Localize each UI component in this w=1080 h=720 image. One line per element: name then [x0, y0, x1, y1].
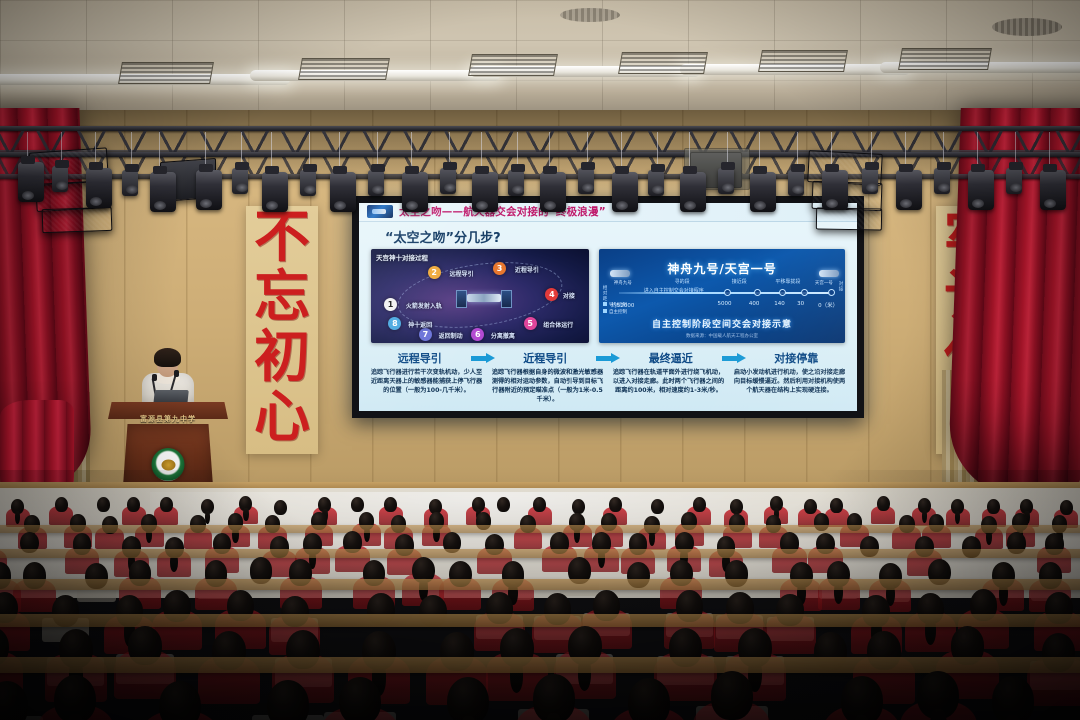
figure-shenzhou-tiangong: 神舟九号/天宫一号 相对距离 对接 约520005000400140300（米）…	[599, 249, 845, 343]
audience-head	[841, 676, 883, 720]
audience-head	[533, 497, 546, 512]
docking-step-label-3: 近程导引	[515, 265, 539, 274]
timeline-tick-label: 30	[797, 301, 804, 307]
step-heading-1: 远程导引	[369, 350, 471, 366]
par-can-light	[934, 168, 950, 194]
step-desc-3: 追踪飞行器在轨道平面外进行绕飞机动，以进入对接走廊。此时两个飞行器之间的距离约1…	[611, 369, 726, 405]
audience-head	[711, 671, 753, 720]
spacecraft-icon-tiangong	[819, 270, 839, 277]
timeline-phase-label: 寻的段	[675, 278, 690, 285]
audience-head	[877, 496, 890, 511]
par-can-light	[508, 170, 524, 196]
moving-head-light	[1040, 170, 1066, 210]
docking-step-dot-7: 7	[419, 328, 432, 341]
banner-char: 心	[254, 390, 310, 446]
step-descriptions: 追踪飞行器进行若干次变轨机动，少人至近距离天器上的敏感器能捕获上停飞行器的位置（…	[359, 367, 857, 411]
audience-head	[572, 499, 585, 514]
par-can-light	[718, 168, 734, 194]
audience-head	[55, 497, 68, 512]
figure-right-legend: 导引控制 自主控制	[603, 302, 627, 317]
moving-head-light	[612, 172, 638, 212]
audience-desk	[0, 657, 1080, 673]
round-ceiling-vent	[992, 18, 1062, 36]
stage-truss-front	[0, 126, 1080, 160]
space-station-icon	[467, 294, 501, 302]
par-can-light	[52, 166, 68, 192]
docking-step-label-7: 返回制动	[439, 331, 463, 340]
audience-head	[0, 681, 28, 720]
audience-head	[609, 497, 622, 512]
audience-head	[267, 680, 309, 720]
ceiling-air-vent	[468, 54, 558, 76]
auditorium-scene: 不 忘 初 心 牢 记 使 命 太空之吻——航天器交会对接的“终极浪漫” “太空…	[0, 0, 1080, 720]
timeline-tick-label: 400	[749, 301, 760, 307]
wall-banner-left: 不 忘 初 心	[246, 206, 318, 454]
docking-step-dot-2: 2	[428, 266, 441, 279]
par-can-light	[578, 168, 594, 194]
ponytail	[922, 510, 927, 523]
legend-item: 导引控制	[609, 303, 627, 308]
slide-title: 太空之吻——航天器交会对接的“终极浪漫”	[399, 204, 606, 219]
timeline-phase-label: 平移靠拢段	[775, 278, 800, 285]
par-can-light	[300, 170, 316, 196]
figure-right-subtitle: 自主控制阶段空间交会对接示意	[599, 317, 845, 330]
step-desc-1: 追踪飞行器进行若干次变轨机动，少人至近距离天器上的敏感器能捕获上停飞行器的位置（…	[369, 369, 484, 405]
docking-step-dot-4: 4	[545, 288, 558, 301]
figure-right-axis-right-label: 对接	[837, 281, 843, 292]
docking-step-label-2: 远程导引	[449, 269, 473, 278]
audience-head	[804, 499, 817, 514]
moving-head-light	[540, 172, 566, 212]
docking-step-dot-6: 6	[471, 328, 484, 341]
audience-head	[628, 678, 670, 720]
timeline-phase-label: 接近段	[732, 278, 747, 285]
ponytail	[649, 530, 655, 545]
audience-head	[384, 497, 397, 512]
audience-desk	[0, 549, 1080, 558]
moving-head-light	[968, 170, 994, 210]
figure-docking-sequence: 天宫神十对接过程 1火箭发射入轨2远程导引3近程导引4对接5组合体运行6分离撤离…	[371, 249, 589, 343]
audience-seating	[0, 470, 1080, 720]
slide-subtitle: “太空之吻”分几步?	[359, 222, 857, 249]
audience-desk	[0, 614, 1080, 627]
ceiling-air-vent	[618, 52, 708, 74]
audience-head	[1060, 500, 1073, 515]
moving-head-light	[680, 172, 706, 212]
spacecraft-caption-tiangong: 天宫一号	[815, 280, 833, 286]
docking-timeline: 约520005000400140300（米）寻的段接近段平移靠拢段进入自主控制交…	[619, 292, 831, 294]
timeline-tick-label: 0（米）	[818, 301, 838, 309]
slide: 太空之吻——航天器交会对接的“终极浪漫” “太空之吻”分几步? 天宫神十对接过程…	[359, 203, 857, 411]
timeline-phase-note: 进入自主控制交会对接程序	[644, 287, 704, 294]
par-can-light	[440, 168, 456, 194]
line-array-speaker-right	[816, 207, 882, 230]
moving-head-light	[150, 172, 176, 212]
spacecraft-icon-shenzhou	[610, 270, 630, 277]
audience-head	[160, 497, 173, 512]
docking-step-dot-1: 1	[384, 298, 397, 311]
figure-right-title: 神舟九号/天宫一号	[599, 260, 845, 277]
par-can-light	[788, 170, 804, 196]
space-thumbnail-icon	[367, 205, 393, 218]
microphone-head	[174, 370, 179, 377]
audience-desk	[0, 579, 1080, 590]
arrow-right-icon	[471, 353, 495, 364]
figure-right-credit: 数据来源：中国载人航天工程办公室	[599, 333, 845, 339]
podium-name-plate: 富源县第九中学	[108, 414, 228, 424]
step-desc-4: 启动小发动机进行机动，使之沿对接走廊向目标缓慢逼近。然后利用对接机构使两个航天器…	[732, 369, 847, 405]
timeline-node	[779, 289, 786, 296]
docking-step-label-5: 组合体运行	[543, 320, 573, 329]
slide-figures: 天宫神十对接过程 1火箭发射入轨2远程导引3近程导引4对接5组合体运行6分离撤离…	[359, 249, 857, 343]
timeline-node	[801, 289, 808, 296]
docking-step-label-6: 分离撤离	[491, 331, 515, 340]
audience-head	[97, 497, 110, 512]
par-can-light	[368, 170, 384, 196]
par-can-light	[1006, 168, 1022, 194]
docking-step-label-8: 神十返回	[408, 320, 432, 329]
arrow-right-icon	[722, 353, 746, 364]
moving-head-light	[18, 162, 44, 202]
slide-title-bar: 太空之吻——航天器交会对接的“终极浪漫”	[359, 203, 857, 222]
microphone-head-2	[152, 374, 157, 381]
timeline-tick-label: 140	[774, 301, 785, 307]
audience-head	[987, 499, 1000, 514]
legend-item: 自主控制	[609, 310, 627, 315]
banner-char: 忘	[254, 270, 310, 326]
steps-row: 远程导引 近程导引 最终逼近 对接停靠	[359, 343, 857, 367]
par-can-light	[862, 168, 878, 194]
audience-head	[339, 677, 381, 720]
moving-head-light	[402, 172, 428, 212]
step-desc-2: 追踪飞行器根据自身的微波和激光敏感器测得的相对运动参数，自动引导到目标飞行器附近…	[490, 369, 605, 405]
step-heading-2: 近程导引	[495, 350, 597, 366]
arrow-right-icon	[596, 353, 620, 364]
moving-head-light	[750, 172, 776, 212]
round-ceiling-vent	[560, 8, 620, 22]
timeline-node	[828, 289, 835, 296]
audience-desk	[0, 525, 1080, 532]
timeline-node	[724, 289, 731, 296]
audience-head	[992, 676, 1034, 720]
timeline-node	[754, 289, 761, 296]
moving-head-light	[822, 170, 848, 210]
moving-head-light	[330, 172, 356, 212]
banner-char: 初	[254, 330, 310, 386]
docking-step-dot-5: 5	[524, 317, 537, 330]
figure-left-caption: 天宫神十对接过程	[376, 252, 428, 262]
ponytail	[243, 508, 248, 521]
ceiling-air-vent	[758, 50, 848, 72]
spacecraft-caption-shenzhou: 神舟九号	[614, 280, 632, 286]
docking-step-label-1: 火箭发射入轨	[406, 301, 442, 310]
audience-head	[127, 497, 140, 512]
docking-step-label-4: 对接	[563, 291, 575, 300]
moving-head-light	[472, 172, 498, 212]
par-can-light	[122, 170, 138, 196]
timeline-tick-label: 5000	[717, 301, 731, 307]
line-array-speaker-left	[42, 207, 113, 233]
ceiling-air-vent	[898, 48, 992, 70]
led-presentation-screen[interactable]: 太空之吻——航天器交会对接的“终极浪漫” “太空之吻”分几步? 天宫神十对接过程…	[352, 196, 864, 418]
step-heading-4: 对接停靠	[746, 350, 848, 366]
audience-head	[651, 499, 664, 514]
par-can-light	[648, 170, 664, 196]
audience-head	[351, 497, 364, 512]
docking-step-dot-8: 8	[388, 317, 401, 330]
ceiling-air-vent	[118, 62, 214, 84]
audience-head	[497, 497, 510, 512]
audience-head	[429, 499, 442, 514]
moving-head-light	[196, 170, 222, 210]
par-can-light	[232, 168, 248, 194]
moving-head-light	[86, 168, 112, 208]
audience-head	[693, 497, 706, 512]
moving-head-light	[262, 172, 288, 212]
speaker-hair	[154, 348, 181, 367]
ceiling-air-vent	[298, 58, 390, 80]
banner-char: 不	[254, 210, 310, 266]
moving-head-light	[896, 170, 922, 210]
audience-head	[274, 500, 287, 515]
step-heading-3: 最终逼近	[620, 350, 722, 366]
audience-head	[159, 681, 201, 720]
